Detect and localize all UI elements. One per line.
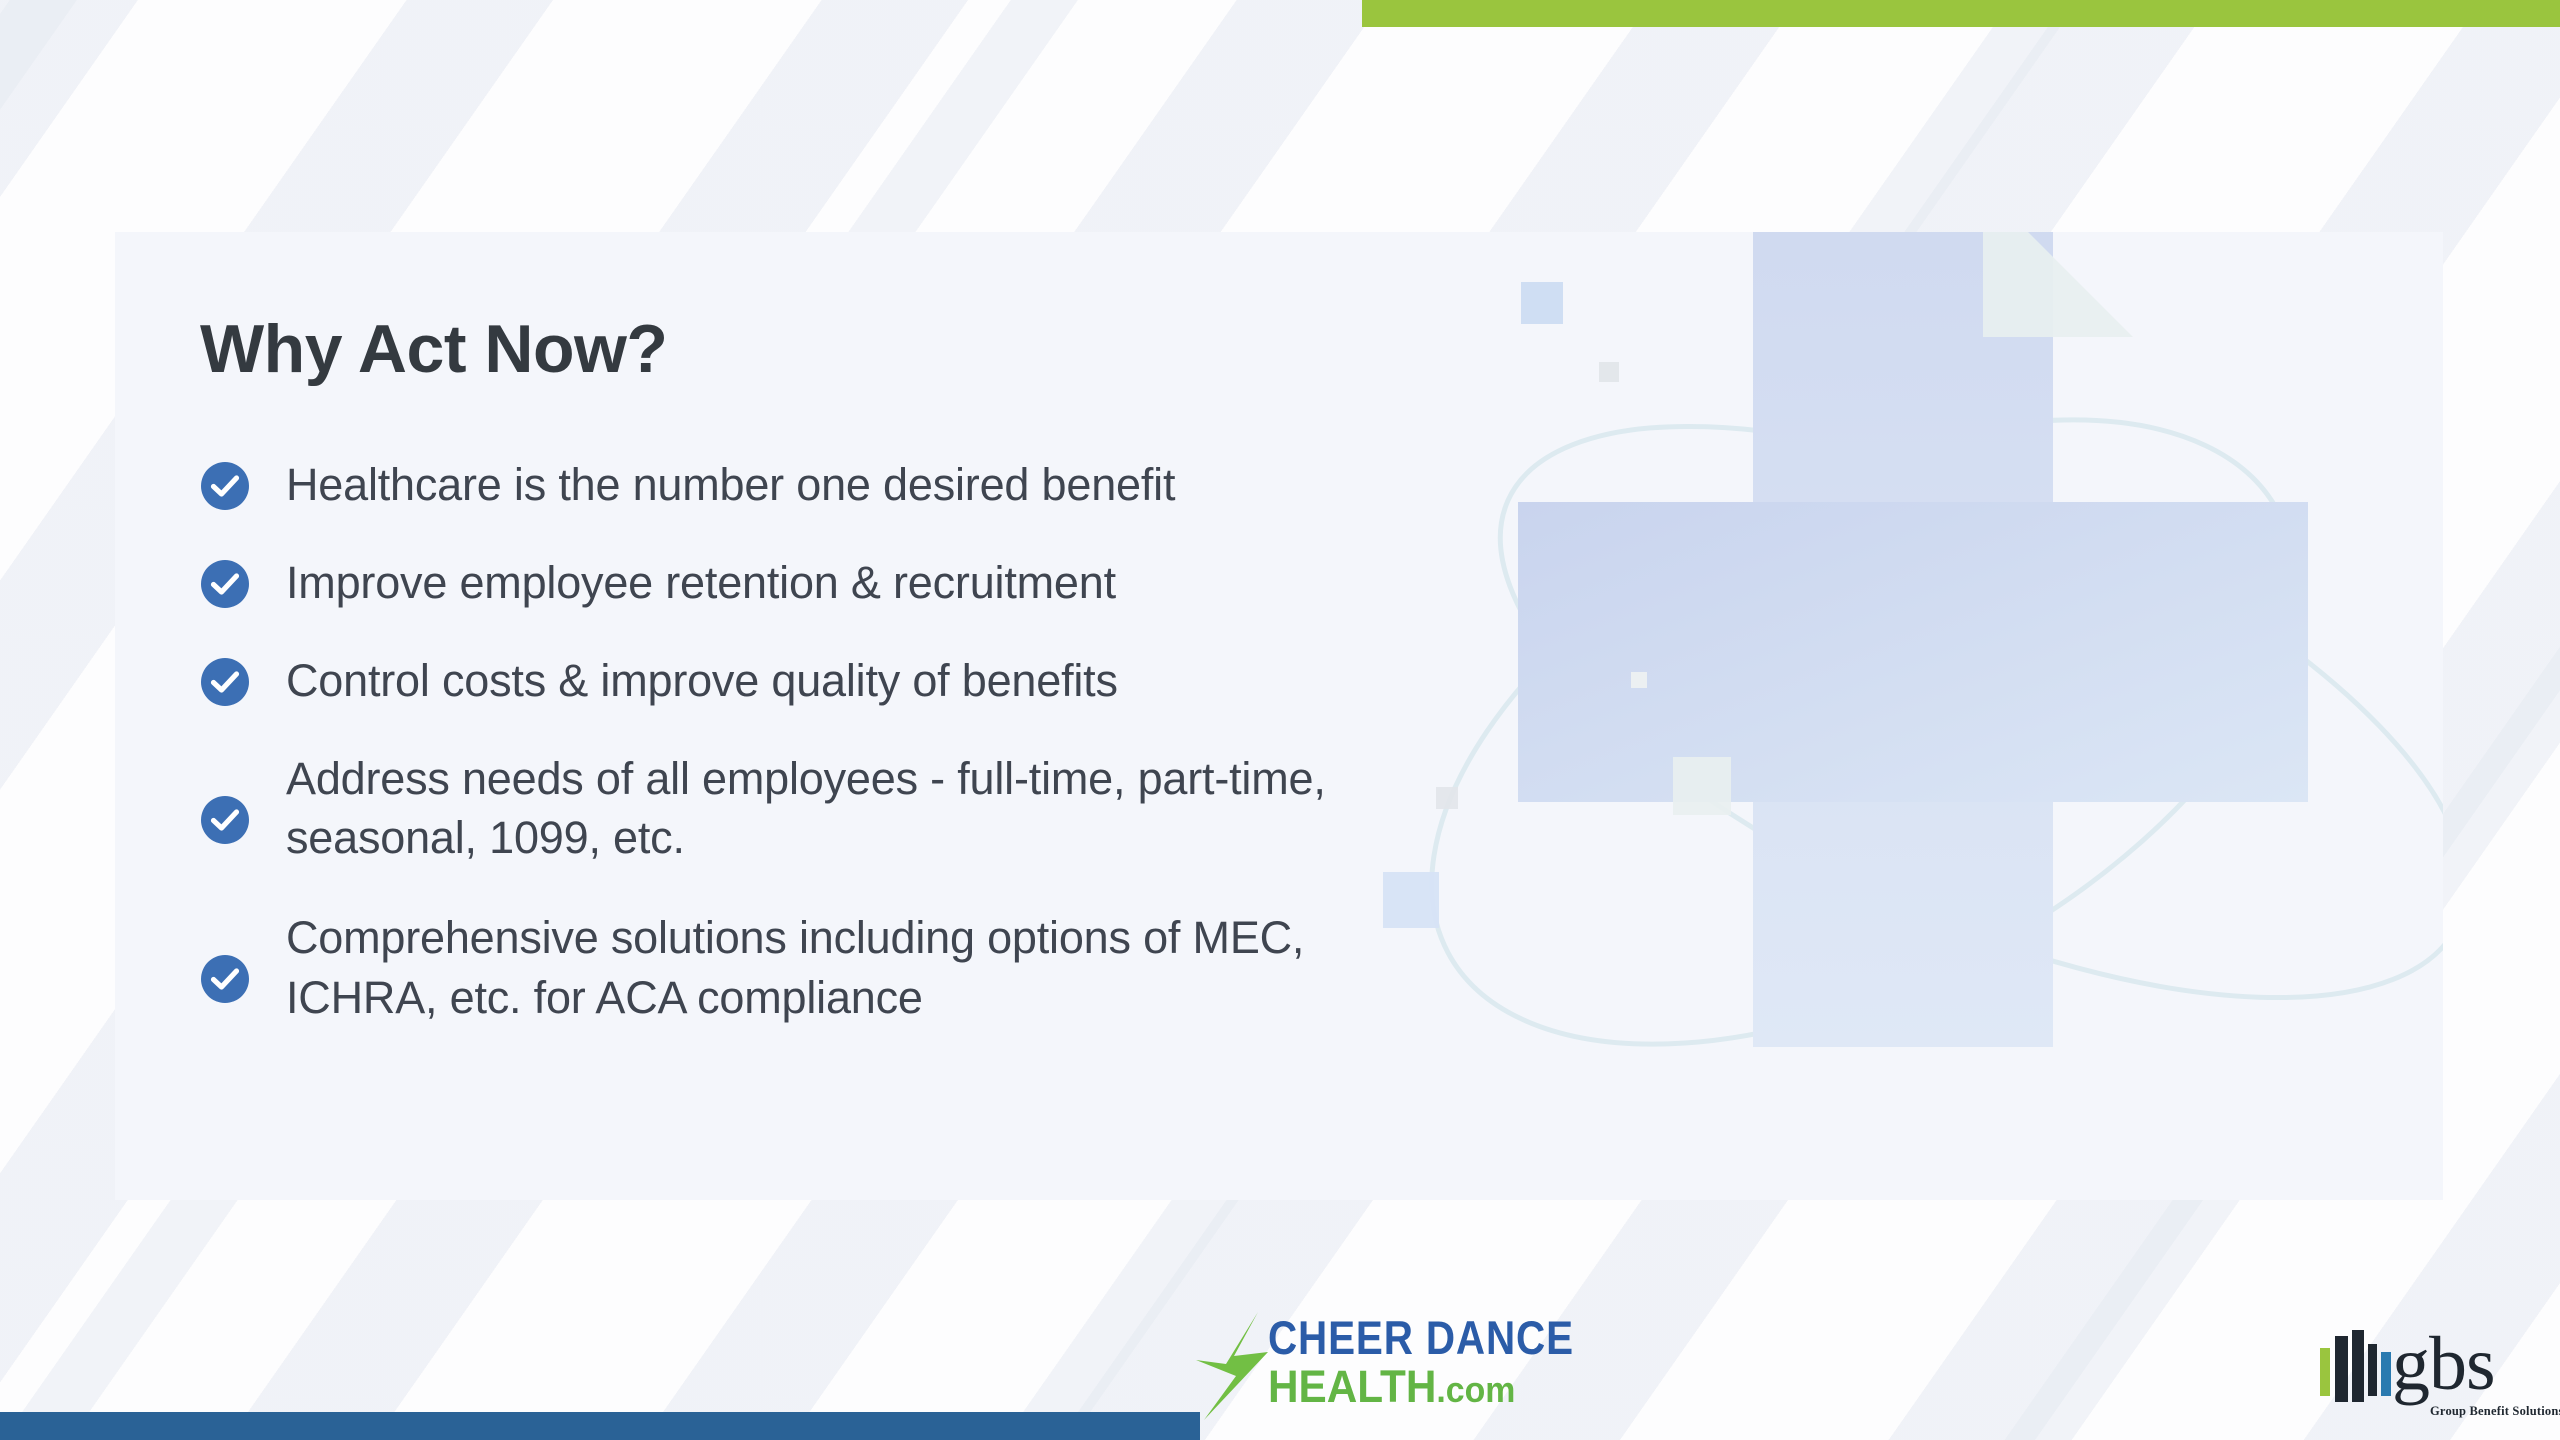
- gbs-tagline: Group Benefit Solutions: [2430, 1404, 2560, 1419]
- bullet-text: Healthcare is the number one desired ben…: [286, 455, 1175, 515]
- check-circle-icon: [200, 657, 250, 707]
- bullet-text-multiline: Comprehensive solutions including option…: [286, 908, 1304, 1028]
- bullet-item: Control costs & improve quality of benef…: [200, 651, 1600, 711]
- logo-health-text: HEALTH: [1268, 1361, 1436, 1412]
- decor-square: [1631, 672, 1647, 688]
- presentation-slide: Why Act Now? Healthcare is the number on…: [0, 0, 2560, 1440]
- slide-title: Why Act Now?: [200, 310, 667, 388]
- bar-chart-icon: [2318, 1330, 2396, 1408]
- gbs-wordmark: gbs: [2392, 1326, 2495, 1402]
- gbs-logo: gbs Group Benefit Solutions: [2318, 1330, 2533, 1430]
- bullet-text-line: Address needs of all employees - full-ti…: [286, 753, 1326, 804]
- check-circle-icon: [200, 954, 250, 1004]
- bullet-item: Comprehensive solutions including option…: [200, 908, 1600, 1028]
- logo-com-text: .com: [1436, 1369, 1515, 1410]
- logo-line-cheer-dance: CHEER DANCE: [1268, 1314, 1574, 1362]
- decor-square: [1599, 362, 1619, 382]
- check-circle-icon: [200, 559, 250, 609]
- decor-square: [1521, 282, 1563, 324]
- bullet-item: Address needs of all employees - full-ti…: [200, 749, 1600, 869]
- bullet-text-line: ICHRA, etc. for ACA compliance: [286, 972, 923, 1023]
- cheer-dance-health-logo: CHEER DANCE HEALTH.com: [1196, 1312, 1536, 1420]
- bullet-item: Healthcare is the number one desired ben…: [200, 455, 1600, 515]
- decor-square: [1673, 757, 1731, 815]
- top-green-accent-bar: [1362, 0, 2560, 27]
- bullet-text: Improve employee retention & recruitment: [286, 553, 1116, 613]
- bullet-list: Healthcare is the number one desired ben…: [200, 455, 1600, 1068]
- bullet-item: Improve employee retention & recruitment: [200, 553, 1600, 613]
- cheer-dance-health-wordmark: CHEER DANCE HEALTH.com: [1268, 1314, 1624, 1410]
- bottom-blue-accent-bar: [0, 1412, 1200, 1440]
- check-circle-icon: [200, 795, 250, 845]
- bullet-text-multiline: Address needs of all employees - full-ti…: [286, 749, 1326, 869]
- check-circle-icon: [200, 461, 250, 511]
- logo-line-health: HEALTH.com: [1268, 1364, 1602, 1410]
- bullet-text: Control costs & improve quality of benef…: [286, 651, 1118, 711]
- bullet-text-line: seasonal, 1099, etc.: [286, 812, 685, 863]
- bullet-text-line: Comprehensive solutions including option…: [286, 912, 1304, 963]
